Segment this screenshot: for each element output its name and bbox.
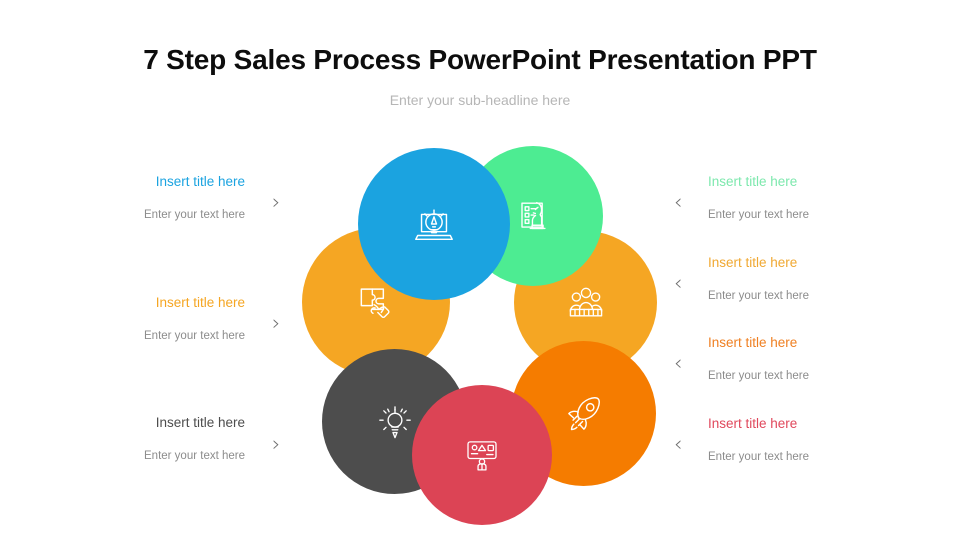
rocket-launch-icon [561, 391, 607, 437]
step-title: Insert title here [708, 335, 918, 351]
page-title: 7 Step Sales Process PowerPoint Presenta… [0, 44, 960, 76]
step-body: Enter your text here [35, 329, 245, 343]
chevron-right-icon-2: › [272, 313, 280, 334]
page-subtitle: Enter your sub-headline here [0, 92, 960, 108]
chevron-left-icon-4: ‹ [674, 434, 682, 455]
team-group-icon [564, 281, 608, 325]
step-body: Enter your text here [708, 450, 918, 464]
chevron-left-icon-1: ‹ [674, 192, 682, 213]
process-circle-cluster [296, 140, 648, 500]
laptop-idea-icon [411, 201, 457, 247]
chevron-right-icon-3: › [272, 434, 280, 455]
step-label-right-3: Insert title here Enter your text here [708, 335, 918, 383]
step-label-right-2: Insert title here Enter your text here [708, 255, 918, 303]
step-body: Enter your text here [708, 289, 918, 303]
step-body: Enter your text here [35, 449, 245, 463]
chevron-left-icon-3: ‹ [674, 353, 682, 374]
bubble-crimson[interactable] [412, 385, 552, 525]
bubble-blue[interactable] [358, 148, 510, 300]
step-title: Insert title here [708, 174, 918, 190]
step-title: Insert title here [35, 415, 245, 431]
strategy-chess-checklist-icon [511, 194, 555, 238]
step-label-left-3: Insert title here Enter your text here [35, 415, 245, 463]
step-body: Enter your text here [708, 208, 918, 222]
lightbulb-idea-icon [373, 400, 417, 444]
step-label-left-2: Insert title here Enter your text here [35, 295, 245, 343]
presentation-board-person-icon [461, 434, 503, 476]
step-title: Insert title here [35, 295, 245, 311]
step-label-right-4: Insert title here Enter your text here [708, 416, 918, 464]
slide-canvas: 7 Step Sales Process PowerPoint Presenta… [0, 0, 960, 540]
step-title: Insert title here [35, 174, 245, 190]
step-title: Insert title here [708, 416, 918, 432]
step-label-left-1: Insert title here Enter your text here [35, 174, 245, 222]
step-body: Enter your text here [35, 208, 245, 222]
step-title: Insert title here [708, 255, 918, 271]
chevron-right-icon-1: › [272, 192, 280, 213]
chevron-left-icon-2: ‹ [674, 273, 682, 294]
step-label-right-1: Insert title here Enter your text here [708, 174, 918, 222]
step-body: Enter your text here [708, 369, 918, 383]
